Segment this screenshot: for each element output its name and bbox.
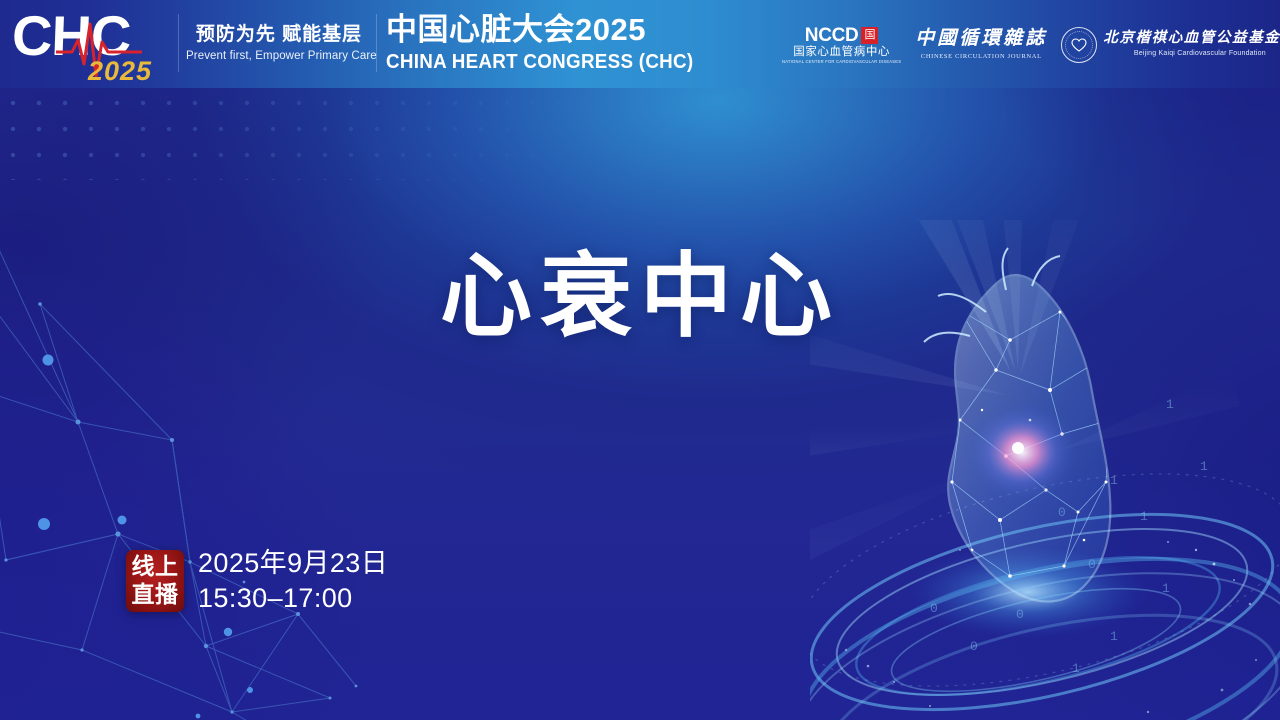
broadcast-datetime: 2025年9月23日 15:30–17:00 xyxy=(198,546,388,615)
chc-logo[interactable]: CHC 2025 xyxy=(12,6,174,84)
broadcast-info: 线上 直播 2025年9月23日 15:30–17:00 xyxy=(126,546,388,615)
nccd-name-cn: 国家心血管病中心 xyxy=(793,46,890,59)
tagline-cn: 预防为先 赋能基层 xyxy=(186,24,372,46)
partner-logo-journal[interactable]: 中國循環雜誌 CHINESE CIRCULATION JOURNAL xyxy=(915,29,1047,61)
header-bar: CHC 2025 预防为先 赋能基层 Prevent first, Empowe… xyxy=(0,0,1280,88)
broadcast-date: 2025年9月23日 xyxy=(198,546,388,581)
broadcast-time: 15:30–17:00 xyxy=(198,581,388,616)
nccd-name-en: NATIONAL CENTER FOR CARDIOVASCULAR DISEA… xyxy=(782,59,901,64)
live-badge-line2: 直播 xyxy=(132,581,179,608)
journal-name-cn: 中國循環雜誌 xyxy=(915,29,1047,50)
foundation-name-en: Beijing Kaiqi Cardiovascular Foundation xyxy=(1134,50,1266,58)
congress-title-cn: 中国心脏大会2025 xyxy=(386,14,686,47)
live-badge-line1: 线上 xyxy=(132,553,179,580)
congress-title: 中国心脏大会2025 CHINA HEART CONGRESS (CHC) xyxy=(386,14,686,73)
page-title: 心衰中心 xyxy=(0,248,1280,347)
live-stream-badge: 线上 直播 xyxy=(126,550,184,612)
chc-logo-year: 2025 xyxy=(88,58,152,85)
nccd-seal-glyph: 国 xyxy=(864,30,875,41)
congress-title-en: CHINA HEART CONGRESS (CHC) xyxy=(386,51,668,73)
journal-name-en: CHINESE CIRCULATION JOURNAL xyxy=(921,53,1042,61)
partner-logo-foundation[interactable]: 北京楷祺心血管公益基金会 Beijing Kaiqi Cardiovascula… xyxy=(1061,27,1280,63)
tagline-en: Prevent first, Empower Primary Care xyxy=(186,50,372,62)
conference-slide: 10 10 10 10 11 01 xyxy=(0,0,1280,720)
header-divider-right xyxy=(376,14,377,72)
nccd-seal-icon: 国 xyxy=(861,27,878,44)
header-tagline: 预防为先 赋能基层 Prevent first, Empower Primary… xyxy=(186,24,372,62)
header-dot-pattern xyxy=(0,86,760,88)
partner-logo-nccd[interactable]: NCCD 国 国家心血管病中心 NATIONAL CENTER FOR CARD… xyxy=(782,26,901,65)
header-divider-left xyxy=(178,14,179,72)
partner-logos: NCCD 国 国家心血管病中心 NATIONAL CENTER FOR CARD… xyxy=(782,16,1280,74)
nccd-acronym: NCCD xyxy=(805,26,859,45)
foundation-seal-icon xyxy=(1061,27,1097,63)
foundation-name-cn: 北京楷祺心血管公益基金会 xyxy=(1103,31,1280,47)
